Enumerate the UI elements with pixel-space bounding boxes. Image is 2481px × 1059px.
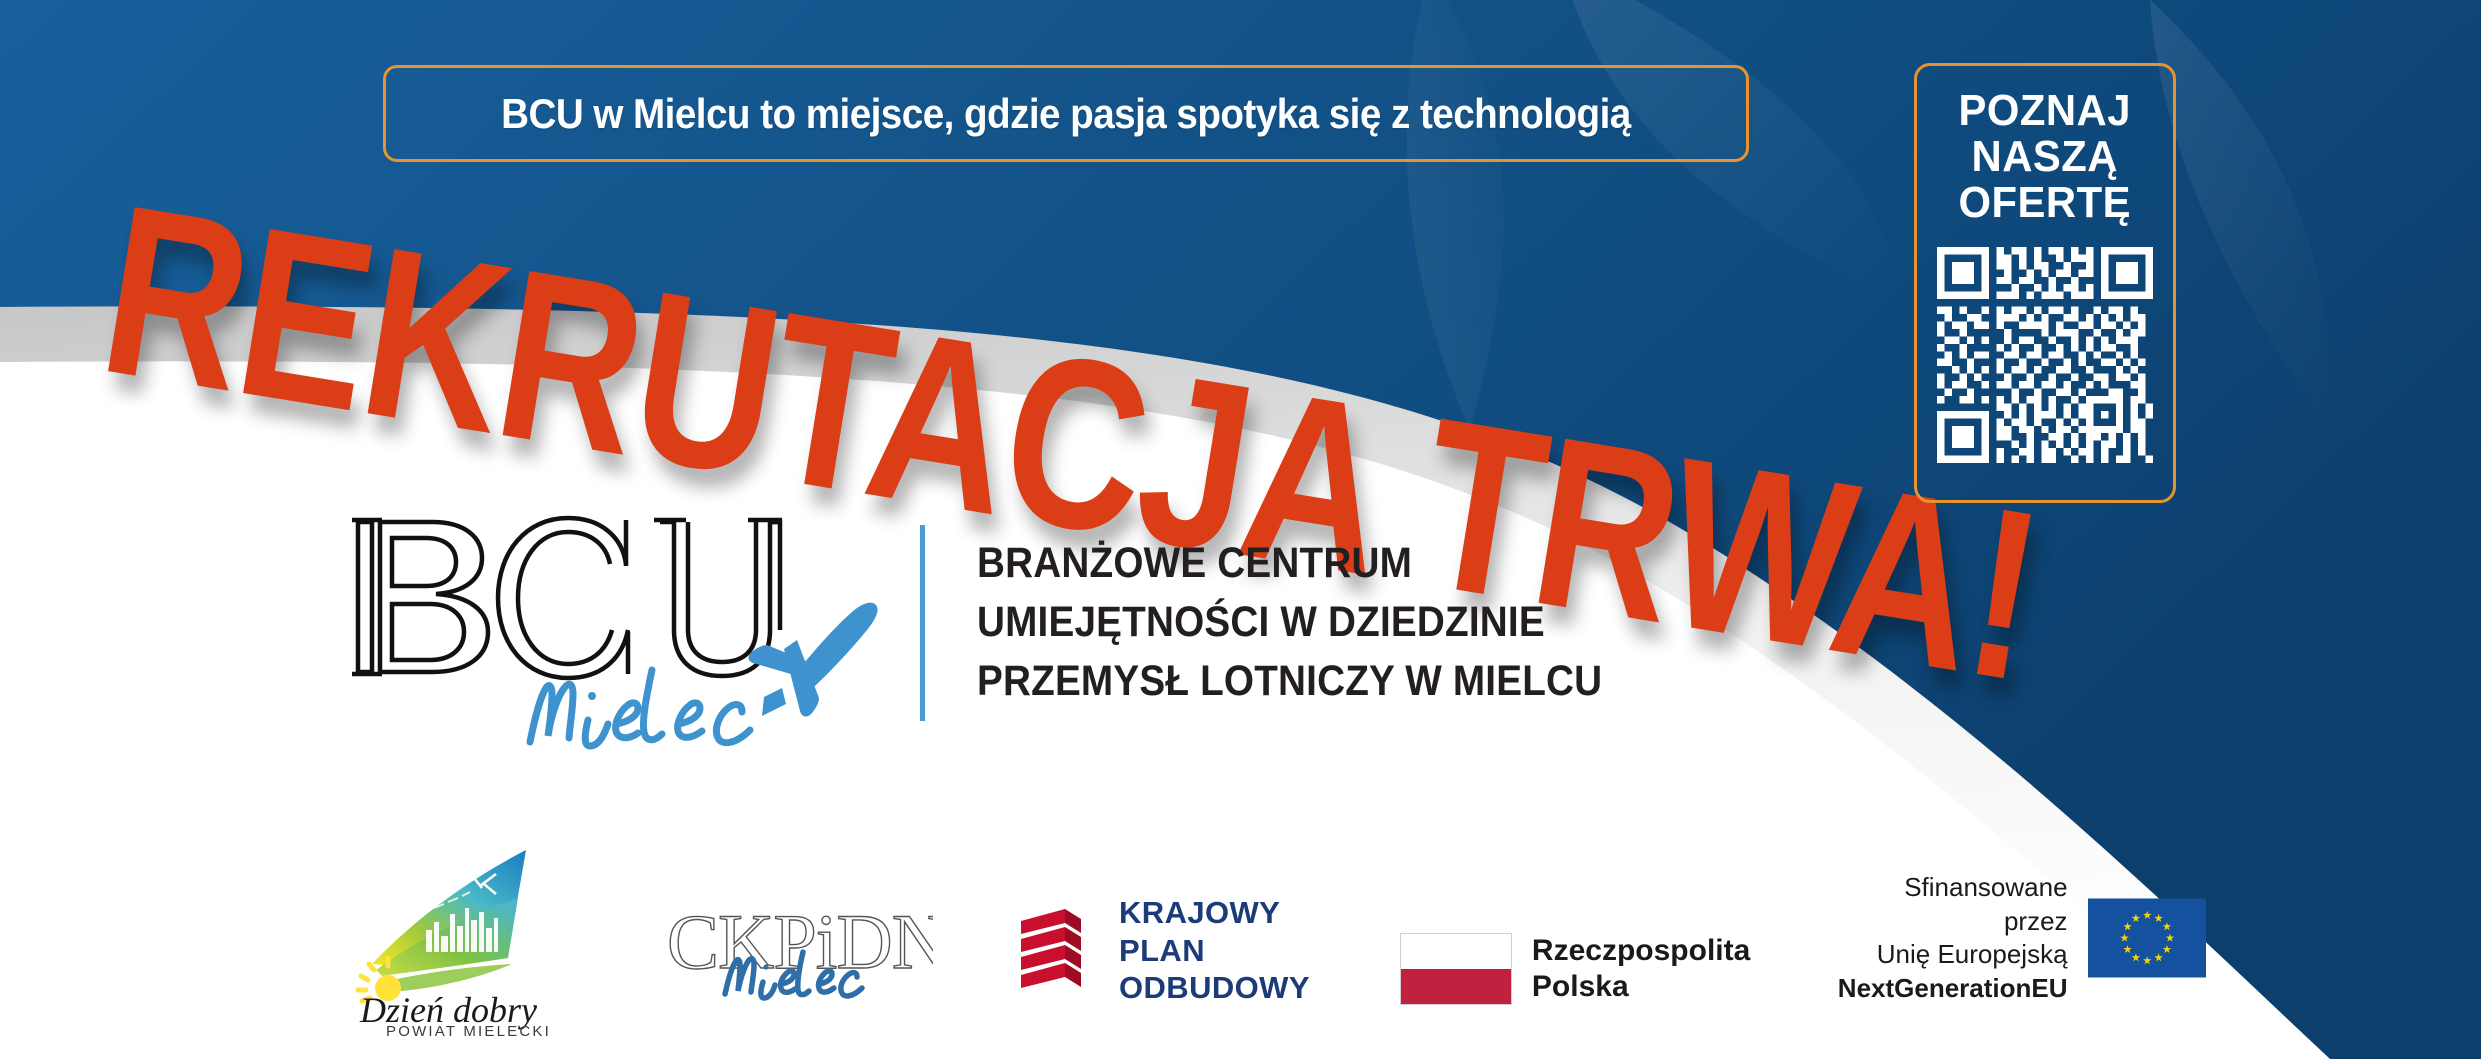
qr-heading-line3: OFERTĘ: [1959, 180, 2131, 226]
rp-text: Rzeczpospolita Polska: [1532, 933, 1750, 1006]
powiat-mielecki-logo: Dzień dobry POWIAT MIELECKI: [330, 840, 585, 1040]
kpo-text: KRAJOWY PLAN ODBUDOWY: [1119, 894, 1310, 1006]
qr-offer-panel[interactable]: POZNAJ NASZĄ OFERTĘ: [1914, 63, 2176, 503]
recruitment-banner: BCU w Mielcu to miejsce, gdzie pasja spo…: [0, 0, 2481, 1059]
tagline-box: BCU w Mielcu to miejsce, gdzie pasja spo…: [383, 65, 1749, 162]
qr-code-svg: [1937, 247, 2153, 463]
org-name-line2: UMIEJĘTNOŚCI W DZIEDZINIE: [977, 593, 1602, 652]
kpo-line2: PLAN: [1119, 932, 1310, 969]
bcu-logo-icon: [330, 490, 890, 755]
tagline-text: BCU w Mielcu to miejsce, gdzie pasja spo…: [501, 90, 1631, 138]
ckpidn-logo: CKPiDN: [585, 890, 933, 1040]
ckpidn-icon: CKPiDN: [663, 890, 933, 1010]
kpo-line1: KRAJOWY: [1119, 894, 1310, 931]
eu-line3: NextGenerationEU: [1836, 972, 2067, 1006]
poland-flag-icon: [1400, 933, 1512, 1005]
kpo-logo: KRAJOWY PLAN ODBUDOWY: [1019, 894, 1310, 1006]
bcu-logo-lockup: BRANŻOWE CENTRUM UMIEJĘTNOŚCI W DZIEDZIN…: [330, 490, 1672, 755]
partner-logo-strip: Dzień dobry POWIAT MIELECKI CKPiDN: [330, 820, 2090, 1040]
mielec-script: [530, 670, 750, 746]
qr-heading: POZNAJ NASZĄ OFERTĘ: [1959, 88, 2131, 225]
european-union-logo: Sfinansowane przez Unię Europejską NextG…: [1836, 871, 2206, 1006]
flag-white-band: [1401, 934, 1511, 969]
eu-text: Sfinansowane przez Unię Europejską NextG…: [1836, 871, 2067, 1006]
powiat-subtitle: POWIAT MIELECKI: [386, 1023, 551, 1040]
qr-heading-line2: NASZĄ: [1959, 134, 2131, 180]
eu-line1: Sfinansowane przez: [1836, 871, 2067, 939]
qr-heading-line1: POZNAJ: [1959, 88, 2131, 134]
organization-name: BRANŻOWE CENTRUM UMIEJĘTNOŚCI W DZIEDZIN…: [977, 534, 1602, 712]
rp-line2: Polska: [1532, 969, 1750, 1006]
org-name-line3: PRZEMYSŁ LOTNICZY W MIELCU: [977, 652, 1602, 711]
powiat-mielecki-icon: Dzień dobry POWIAT MIELECKI: [330, 840, 585, 1040]
qr-code-icon[interactable]: [1937, 247, 2153, 463]
eu-line2: Unię Europejską: [1836, 938, 2067, 972]
org-name-line1: BRANŻOWE CENTRUM: [977, 534, 1602, 593]
rzeczpospolita-polska-logo: Rzeczpospolita Polska: [1400, 933, 1750, 1006]
rp-line1: Rzeczpospolita: [1532, 933, 1750, 970]
flag-red-band: [1401, 969, 1511, 1004]
eu-flag-icon: [2088, 898, 2207, 978]
kpo-line3: ODBUDOWY: [1119, 969, 1310, 1006]
kpo-mark-icon: [1019, 907, 1099, 993]
logo-divider: [920, 525, 925, 721]
